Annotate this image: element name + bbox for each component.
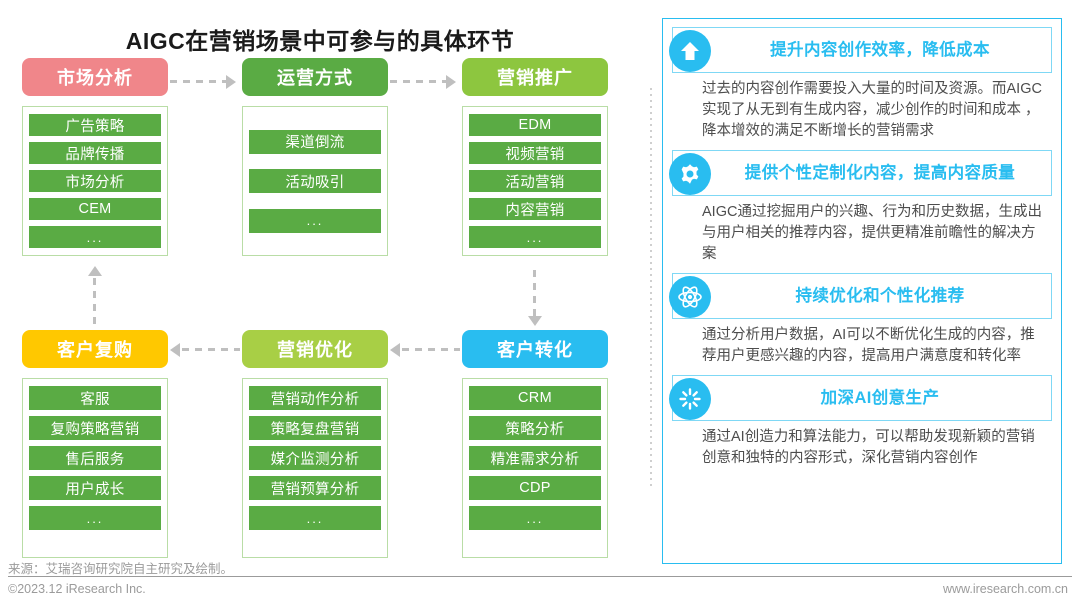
sunburst-icon xyxy=(669,378,711,420)
flow-node-items: 渠道倒流 活动吸引 ... xyxy=(242,106,388,256)
flow-node-customer-conversion[interactable]: 客户转化 CRM 策略分析 精准需求分析 CDP ... xyxy=(462,330,608,558)
list-item[interactable]: 活动吸引 xyxy=(249,169,381,193)
flow-node-customer-repurchase[interactable]: 客户复购 客服 复购策略营销 售后服务 用户成长 ... xyxy=(22,330,168,558)
list-item[interactable]: CDP xyxy=(469,476,601,500)
benefit-card-1[interactable]: 提升内容创作效率，降低成本 过去的内容创作需要投入大量的时间及资源。而AIGC实… xyxy=(672,27,1052,146)
arrow-optimization-to-repurchase xyxy=(170,343,240,357)
arrow-conversion-to-optimization xyxy=(390,343,460,357)
marketing-flow-diagram: 市场分析 广告策略 品牌传播 市场分析 CEM ... 运营方式 渠道倒流 活动… xyxy=(0,58,648,548)
benefit-card-body: 通过AI创造力和算法能力，可以帮助发现新颖的营销创意和独特的内容形式，深化营销内… xyxy=(672,421,1052,473)
flow-node-items: 客服 复购策略营销 售后服务 用户成长 ... xyxy=(22,378,168,558)
vertical-divider xyxy=(650,88,652,488)
flow-node-items: 广告策略 品牌传播 市场分析 CEM ... xyxy=(22,106,168,256)
benefit-card-header: 加深AI创意生产 xyxy=(672,375,1052,421)
benefit-card-body: 过去的内容创作需要投入大量的时间及资源。而AIGC实现了从无到有生成内容，减少创… xyxy=(672,73,1052,146)
list-item[interactable]: 视频营销 xyxy=(469,142,601,164)
benefit-card-4[interactable]: 加深AI创意生产 通过AI创造力和算法能力，可以帮助发现新颖的营销创意和独特的内… xyxy=(672,375,1052,473)
flow-node-header[interactable]: 市场分析 xyxy=(22,58,168,96)
list-item[interactable]: 复购策略营销 xyxy=(29,416,161,440)
list-item[interactable]: 市场分析 xyxy=(29,170,161,192)
list-item[interactable]: 营销预算分析 xyxy=(249,476,381,500)
flow-node-market-analysis[interactable]: 市场分析 广告策略 品牌传播 市场分析 CEM ... xyxy=(22,58,168,256)
flow-node-operation-mode[interactable]: 运营方式 渠道倒流 活动吸引 ... xyxy=(242,58,388,256)
page-title: AIGC在营销场景中可参与的具体环节 xyxy=(0,22,640,56)
list-item[interactable]: CEM xyxy=(29,198,161,220)
benefit-card-2[interactable]: 提供个性定制化内容，提高内容质量 AIGC通过挖掘用户的兴趣、行为和历史数据，生… xyxy=(672,150,1052,269)
list-item[interactable]: 用户成长 xyxy=(29,476,161,500)
benefit-card-header: 提升内容创作效率，降低成本 xyxy=(672,27,1052,73)
list-item-more[interactable]: ... xyxy=(29,506,161,530)
benefit-card-body: 通过分析用户数据，AI可以不断优化生成的内容，推荐用户更感兴趣的内容，提高用户满… xyxy=(672,319,1052,371)
benefit-card-title: 加深AI创意生产 xyxy=(821,389,940,407)
benefit-card-body: AIGC通过挖掘用户的兴趣、行为和历史数据，生成出与用户相关的推荐内容，提供更精… xyxy=(672,196,1052,269)
list-item-more[interactable]: ... xyxy=(249,506,381,530)
list-item[interactable]: 售后服务 xyxy=(29,446,161,470)
flow-node-header[interactable]: 营销优化 xyxy=(242,330,388,368)
benefit-card-3[interactable]: 持续优化和个性化推荐 通过分析用户数据，AI可以不断优化生成的内容，推荐用户更感… xyxy=(672,273,1052,371)
list-item[interactable]: 精准需求分析 xyxy=(469,446,601,470)
benefit-card-header: 持续优化和个性化推荐 xyxy=(672,273,1052,319)
list-item[interactable]: 品牌传播 xyxy=(29,142,161,164)
list-item[interactable]: 策略分析 xyxy=(469,416,601,440)
atom-icon xyxy=(669,276,711,318)
list-item[interactable]: EDM xyxy=(469,114,601,136)
list-item[interactable]: 广告策略 xyxy=(29,114,161,136)
list-item[interactable]: 渠道倒流 xyxy=(249,130,381,154)
infographic-page: AIGC在营销场景中可参与的具体环节 xyxy=(0,0,1080,605)
flow-node-header[interactable]: 客户复购 xyxy=(22,330,168,368)
benefit-card-title: 持续优化和个性化推荐 xyxy=(796,287,965,305)
flow-node-header[interactable]: 营销推广 xyxy=(462,58,608,96)
arrow-promotion-to-conversion xyxy=(528,270,542,332)
list-item[interactable]: 策略复盘营销 xyxy=(249,416,381,440)
flow-node-items: 营销动作分析 策略复盘营销 媒介监测分析 营销预算分析 ... xyxy=(242,378,388,558)
copyright-note: ©2023.12 iResearch Inc. xyxy=(8,582,146,596)
benefit-card-header: 提供个性定制化内容，提高内容质量 xyxy=(672,150,1052,196)
gear-icon xyxy=(669,153,711,195)
flow-node-header[interactable]: 运营方式 xyxy=(242,58,388,96)
website-link[interactable]: www.iresearch.com.cn xyxy=(943,582,1068,596)
flow-node-header[interactable]: 客户转化 xyxy=(462,330,608,368)
list-item[interactable]: 活动营销 xyxy=(469,170,601,192)
list-item-more[interactable]: ... xyxy=(29,226,161,248)
list-item-more[interactable]: ... xyxy=(249,209,381,233)
arrow-market-to-operation xyxy=(170,75,240,89)
list-item[interactable]: 客服 xyxy=(29,386,161,410)
flow-node-marketing-promotion[interactable]: 营销推广 EDM 视频营销 活动营销 内容营销 ... xyxy=(462,58,608,256)
benefit-card-title: 提升内容创作效率，降低成本 xyxy=(770,41,990,59)
list-item[interactable]: 媒介监测分析 xyxy=(249,446,381,470)
list-item[interactable]: 营销动作分析 xyxy=(249,386,381,410)
flow-node-marketing-optimization[interactable]: 营销优化 营销动作分析 策略复盘营销 媒介监测分析 营销预算分析 ... xyxy=(242,330,388,558)
arrow-repurchase-to-market xyxy=(88,266,102,332)
list-item[interactable]: 内容营销 xyxy=(469,198,601,220)
benefit-card-title: 提供个性定制化内容，提高内容质量 xyxy=(745,164,1015,182)
list-item[interactable]: CRM xyxy=(469,386,601,410)
arrow-operation-to-promotion xyxy=(390,75,460,89)
flow-node-items: EDM 视频营销 活动营销 内容营销 ... xyxy=(462,106,608,256)
list-item-more[interactable]: ... xyxy=(469,506,601,530)
source-note: 来源：艾瑞咨询研究院自主研究及绘制。 xyxy=(8,558,233,577)
flow-node-items: CRM 策略分析 精准需求分析 CDP ... xyxy=(462,378,608,558)
list-item-more[interactable]: ... xyxy=(469,226,601,248)
benefits-panel: 提升内容创作效率，降低成本 过去的内容创作需要投入大量的时间及资源。而AIGC实… xyxy=(662,18,1062,564)
footer-divider xyxy=(8,576,1072,577)
arrow-up-icon xyxy=(669,30,711,72)
